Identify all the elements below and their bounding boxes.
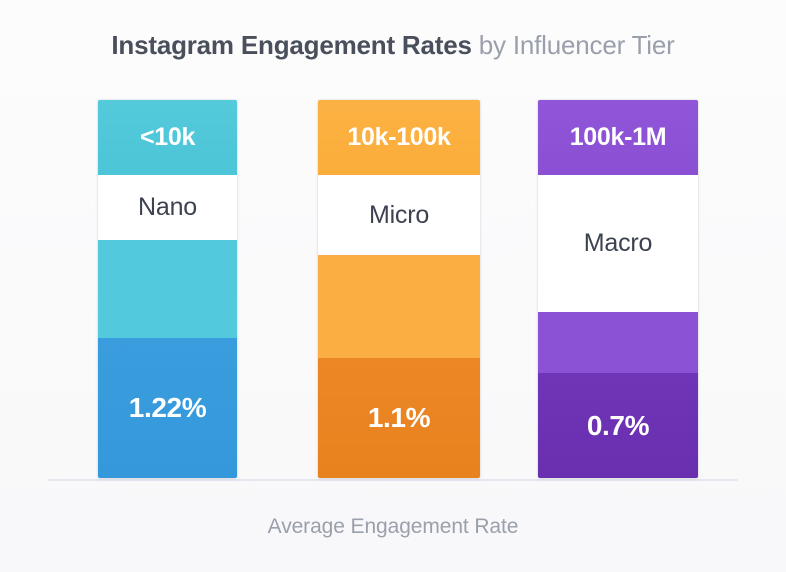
bar-nano-value-label: 1.22% [129,392,206,424]
plot-area: <10k Nano 1.22% 10k-100k Micro 1.1% [0,0,786,572]
bar-micro-tier-label: Micro [369,201,429,230]
bar-micro[interactable]: 10k-100k Micro 1.1% [318,100,480,478]
bar-nano-range-label: <10k [140,123,195,152]
chart-baseline [48,479,738,481]
chart-canvas: Instagram Engagement Rates by Influencer… [0,0,786,572]
bar-macro-tier-segment: Macro [538,175,698,312]
bar-nano-range-segment: <10k [98,100,237,175]
bar-macro-value-label: 0.7% [587,410,649,442]
bar-micro-value-label: 1.1% [368,402,430,434]
bar-macro[interactable]: 100k-1M Macro 0.7% [538,100,698,478]
bar-micro-range-segment: 10k-100k [318,100,480,175]
bar-macro-value-segment: 0.7% [538,373,698,478]
bar-nano-tier-label: Nano [138,193,197,222]
axis-caption: Average Engagement Rate [0,515,786,539]
bar-micro-range-label: 10k-100k [347,123,450,152]
bar-nano-tier-segment: Nano [98,175,237,240]
bar-micro-tier-segment: Micro [318,175,480,255]
bar-macro-range-label: 100k-1M [570,123,667,152]
bar-macro-tier-label: Macro [584,229,652,258]
bar-macro-mid-segment [538,312,698,373]
bar-nano[interactable]: <10k Nano 1.22% [98,100,237,478]
bar-nano-mid-segment [98,240,237,338]
bar-macro-range-segment: 100k-1M [538,100,698,175]
bar-micro-value-segment: 1.1% [318,358,480,478]
bar-nano-value-segment: 1.22% [98,338,237,478]
bar-micro-mid-segment [318,255,480,358]
